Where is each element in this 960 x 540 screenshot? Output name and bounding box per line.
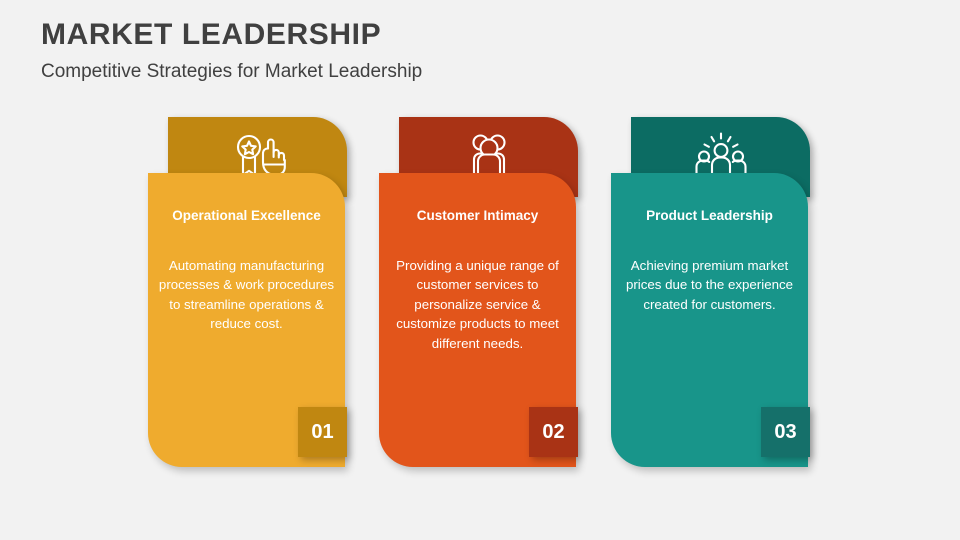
slide-canvas: MARKET LEADERSHIP Competitive Strategies… (0, 0, 960, 540)
card-group: Operational Excellence Automating manufa… (0, 0, 960, 540)
card-number-badge: 02 (529, 407, 578, 457)
card-title: Customer Intimacy (379, 206, 576, 225)
card-description: Automating manufacturing processes & wor… (148, 256, 345, 334)
card-description: Providing a unique range of customer ser… (379, 256, 576, 353)
card-operational-excellence[interactable]: Operational Excellence Automating manufa… (142, 117, 347, 467)
card-title: Product Leadership (611, 206, 808, 225)
card-title: Operational Excellence (148, 206, 345, 225)
card-product-leadership[interactable]: Product Leadership Achieving premium mar… (605, 117, 810, 467)
card-number-badge: 01 (298, 407, 347, 457)
card-number-badge: 03 (761, 407, 810, 457)
card-description: Achieving premium market prices due to t… (611, 256, 808, 314)
card-customer-intimacy[interactable]: Customer Intimacy Providing a unique ran… (373, 117, 578, 467)
